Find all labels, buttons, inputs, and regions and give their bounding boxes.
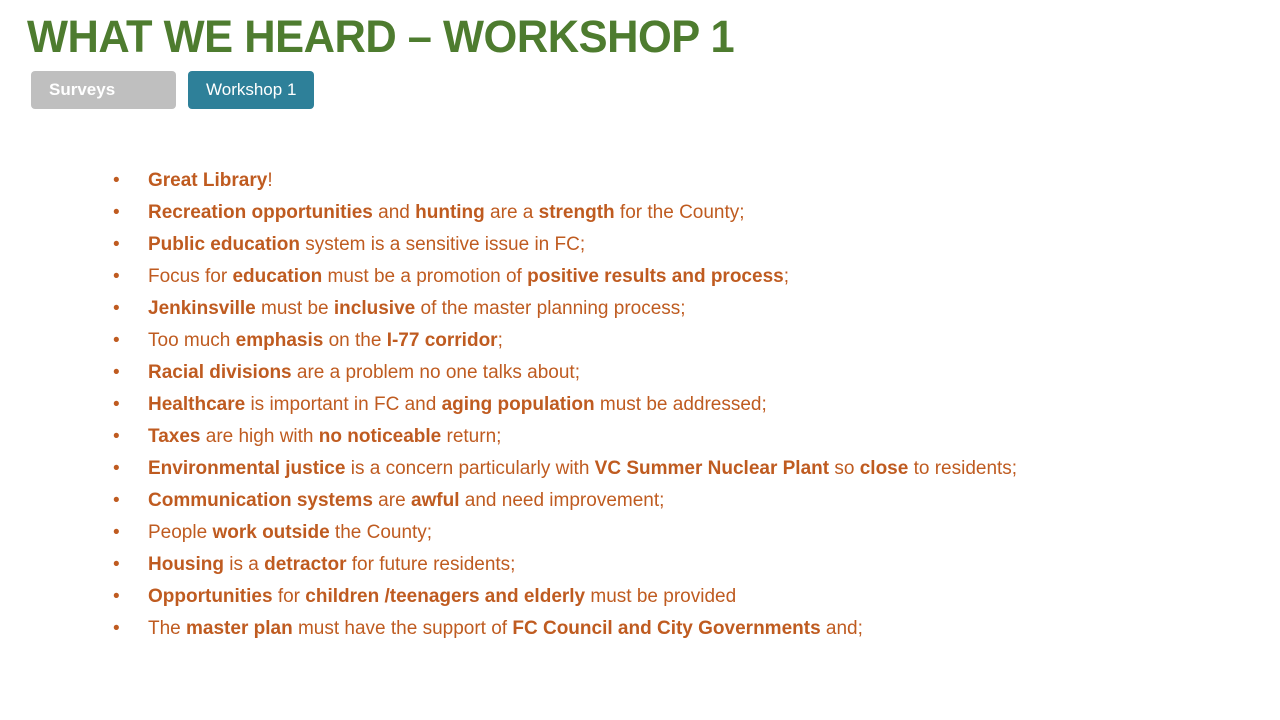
bullet-icon: • [110,456,148,482]
emphasis-text: I-77 corridor [387,330,498,351]
plain-text: for future residents; [346,554,515,575]
emphasis-text: Communication systems [148,490,373,511]
list-item-text: Jenkinsville must be inclusive of the ma… [148,296,1260,322]
bullet-icon: • [110,328,148,354]
emphasis-text: work outside [212,522,329,543]
tab-strip: Surveys Workshop 1 [31,71,314,109]
plain-text: Focus for [148,266,232,287]
list-item: •Focus for education must be a promotion… [110,264,1260,296]
emphasis-text: education [232,266,322,287]
list-item-text: People work outside the County; [148,520,1260,546]
bullet-icon: • [110,168,148,194]
plain-text: is a concern particularly with [345,458,594,479]
bullet-icon: • [110,296,148,322]
bullet-icon: • [110,232,148,258]
list-item-text: Healthcare is important in FC and aging … [148,392,1260,418]
emphasis-text: Healthcare [148,394,245,415]
list-item-text: Environmental justice is a concern parti… [148,456,1260,482]
list-item: •Housing is a detractor for future resid… [110,552,1260,584]
plain-text: are [373,490,411,511]
bullet-list: •Great Library!•Recreation opportunities… [110,168,1260,648]
list-item: •Communication systems are awful and nee… [110,488,1260,520]
emphasis-text: Environmental justice [148,458,345,479]
bullet-icon: • [110,520,148,546]
list-item: •People work outside the County; [110,520,1260,552]
plain-text: is important in FC and [245,394,441,415]
plain-text: People [148,522,212,543]
list-item: •Too much emphasis on the I-77 corridor; [110,328,1260,360]
plain-text: system is a sensitive issue in FC; [300,234,585,255]
page-title: WHAT WE HEARD – WORKSHOP 1 [27,11,734,63]
plain-text: must be [256,298,334,319]
bullet-icon: • [110,424,148,450]
emphasis-text: Public education [148,234,300,255]
list-item-text: Taxes are high with no noticeable return… [148,424,1260,450]
list-item: •Healthcare is important in FC and aging… [110,392,1260,424]
list-item: •Recreation opportunities and hunting ar… [110,200,1260,232]
bullet-icon: • [110,200,148,226]
plain-text: is a [224,554,264,575]
list-item: •Great Library! [110,168,1260,200]
plain-text: must be addressed; [595,394,767,415]
list-item: •Opportunities for children /teenagers a… [110,584,1260,616]
list-item: •Jenkinsville must be inclusive of the m… [110,296,1260,328]
plain-text: the County; [330,522,432,543]
emphasis-text: inclusive [334,298,415,319]
list-item: •Public education system is a sensitive … [110,232,1260,264]
emphasis-text: Taxes [148,426,200,447]
emphasis-text: no noticeable [319,426,441,447]
list-item: •Taxes are high with no noticeable retur… [110,424,1260,456]
list-item-text: Too much emphasis on the I-77 corridor; [148,328,1260,354]
plain-text: must be a promotion of [322,266,527,287]
bullet-icon: • [110,584,148,610]
emphasis-text: Jenkinsville [148,298,256,319]
emphasis-text: VC Summer Nuclear Plant [595,458,829,479]
emphasis-text: awful [411,490,460,511]
list-item: •Racial divisions are a problem no one t… [110,360,1260,392]
plain-text: Too much [148,330,236,351]
plain-text: to residents; [908,458,1017,479]
emphasis-text: hunting [415,202,485,223]
plain-text: are high with [200,426,318,447]
list-item-text: Focus for education must be a promotion … [148,264,1260,290]
plain-text: on the [323,330,386,351]
list-item-text: Racial divisions are a problem no one ta… [148,360,1260,386]
list-item-text: The master plan must have the support of… [148,616,1260,642]
plain-text: for [273,586,306,607]
tab-surveys[interactable]: Surveys [31,71,176,109]
emphasis-text: children /teenagers and elderly [305,586,585,607]
plain-text: are a problem no one talks about; [292,362,580,383]
emphasis-text: close [860,458,909,479]
list-item: •The master plan must have the support o… [110,616,1260,648]
plain-text: and [373,202,415,223]
plain-text: must have the support of [293,618,513,639]
emphasis-text: positive results and process [527,266,784,287]
emphasis-text: FC Council and City Governments [512,618,820,639]
plain-text: must be provided [585,586,736,607]
emphasis-text: strength [539,202,615,223]
emphasis-text: aging population [442,394,595,415]
bullet-icon: • [110,488,148,514]
emphasis-text: master plan [186,618,293,639]
list-item-text: Communication systems are awful and need… [148,488,1260,514]
list-item: •Environmental justice is a concern part… [110,456,1260,488]
plain-text: ! [267,170,272,191]
emphasis-text: Opportunities [148,586,273,607]
emphasis-text: Racial divisions [148,362,292,383]
bullet-icon: • [110,264,148,290]
emphasis-text: Great Library [148,170,267,191]
list-item-text: Great Library! [148,168,1260,194]
bullet-icon: • [110,552,148,578]
list-item-text: Opportunities for children /teenagers an… [148,584,1260,610]
plain-text: return; [441,426,501,447]
plain-text: and need improvement; [460,490,665,511]
plain-text: ; [498,330,503,351]
emphasis-text: emphasis [236,330,324,351]
plain-text: ; [784,266,789,287]
plain-text: are a [485,202,539,223]
emphasis-text: Recreation opportunities [148,202,373,223]
plain-text: and; [821,618,863,639]
plain-text: for the County; [615,202,745,223]
tab-workshop-1[interactable]: Workshop 1 [188,71,314,109]
list-item-text: Public education system is a sensitive i… [148,232,1260,258]
list-item-text: Recreation opportunities and hunting are… [148,200,1260,226]
bullet-icon: • [110,392,148,418]
bullet-icon: • [110,616,148,642]
bullet-icon: • [110,360,148,386]
emphasis-text: detractor [264,554,346,575]
plain-text: The [148,618,186,639]
plain-text: so [829,458,860,479]
plain-text: of the master planning process; [415,298,685,319]
emphasis-text: Housing [148,554,224,575]
list-item-text: Housing is a detractor for future reside… [148,552,1260,578]
